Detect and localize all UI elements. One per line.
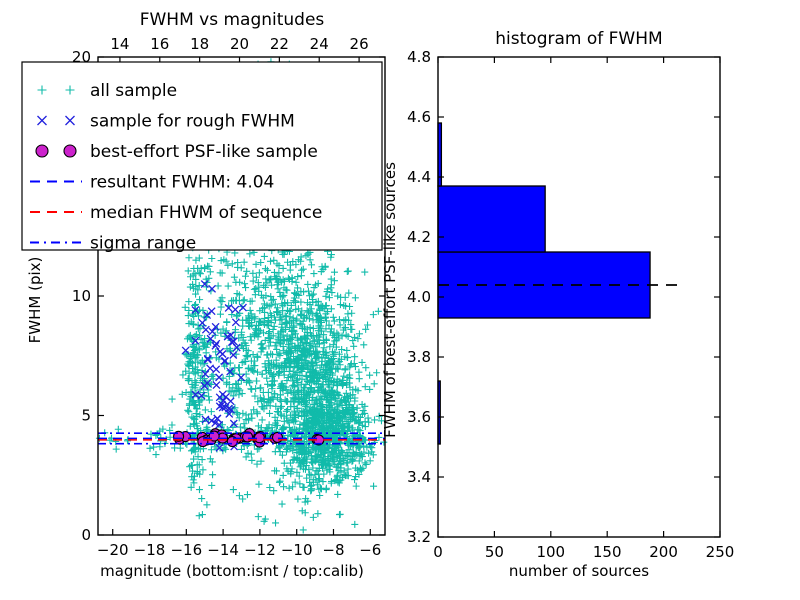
scatter-x-tick-label: −18: [134, 541, 166, 559]
scatter-y-tick-label: 5: [81, 407, 91, 425]
histogram-y-tick-label: 4.8: [407, 48, 431, 66]
scatter-x-tick-label: −14: [207, 541, 239, 559]
histogram-y-tick-label: 3.2: [407, 528, 431, 546]
scatter-top-tick-label: 24: [310, 35, 329, 53]
matplotlib-figure: FWHM vs magnitudes 14161820222426 −20−18…: [0, 0, 800, 600]
legend-item-label[interactable]: sample for rough FWHM: [90, 112, 295, 132]
scatter-y-tick-label: 10: [72, 287, 91, 305]
scatter-x-tick-label: −6: [359, 541, 381, 559]
histogram-y-tick-label: 4.2: [407, 228, 431, 246]
scatter-top-tick-label: 26: [350, 35, 369, 53]
legend-item-label[interactable]: median FHWM of sequence: [90, 203, 322, 223]
histogram-x-tick-label: 0: [433, 543, 443, 561]
scatter-top-tick-label: 14: [110, 35, 129, 53]
histogram-y-tick-label: 3.6: [407, 408, 431, 426]
scatter-top-tick-label: 22: [270, 35, 289, 53]
scatter-x-axis-label: magnitude (bottom:isnt / top:calib): [100, 562, 364, 580]
legend-item-label[interactable]: sigma range: [90, 234, 196, 254]
figure-canvas: FWHM vs magnitudes 14161820222426 −20−18…: [0, 0, 800, 600]
histogram-y-tick-label: 3.4: [407, 468, 431, 486]
scatter-top-tick-label: 18: [190, 35, 209, 53]
histogram-y-tick-label: 3.8: [407, 348, 431, 366]
scatter-x-tick-label: −10: [281, 541, 313, 559]
histogram-x-tick-label: 50: [485, 543, 504, 561]
scatter-point-circle: [64, 145, 76, 157]
histogram-x-tick-label: 250: [706, 543, 735, 561]
histogram-x-tick-label: 200: [649, 543, 678, 561]
histogram-y-tick-labels: 3.23.43.63.84.04.24.44.64.8: [407, 48, 431, 546]
scatter-top-tick-label: 20: [230, 35, 249, 53]
legend-item-label[interactable]: all sample: [90, 81, 177, 101]
scatter-x-tick-label: −16: [170, 541, 202, 559]
legend[interactable]: all samplesample for rough FWHMbest-effo…: [22, 62, 382, 254]
histogram-y-tick-label: 4.0: [407, 288, 431, 306]
scatter-y-axis-label: FWHM (pix): [26, 257, 44, 344]
histogram-y-tick-label: 4.6: [407, 108, 431, 126]
histogram-x-axis-label: number of sources: [509, 562, 649, 580]
histogram-y-tick-label: 4.4: [407, 168, 431, 186]
scatter-title: FWHM vs magnitudes: [140, 10, 325, 30]
histogram-x-tick-label: 150: [593, 543, 622, 561]
legend-item-label[interactable]: best-effort PSF-like sample: [90, 142, 318, 162]
legend-item-label[interactable]: resultant FWHM: 4.04: [90, 173, 274, 193]
histogram-y-axis-label: FWHM of best-effort PSF-like sources: [381, 162, 399, 438]
scatter-y-tick-label: 0: [81, 526, 91, 544]
histogram-bar: [438, 186, 545, 252]
scatter-x-tick-label: −20: [97, 541, 129, 559]
histogram-x-tick-label: 100: [536, 543, 565, 561]
scatter-top-tick-label: 16: [150, 35, 169, 53]
histogram-title: histogram of FWHM: [495, 29, 662, 49]
scatter-x-tick-label: −12: [244, 541, 276, 559]
scatter-point-circle: [36, 145, 48, 157]
scatter-x-tick-label: −8: [322, 541, 344, 559]
